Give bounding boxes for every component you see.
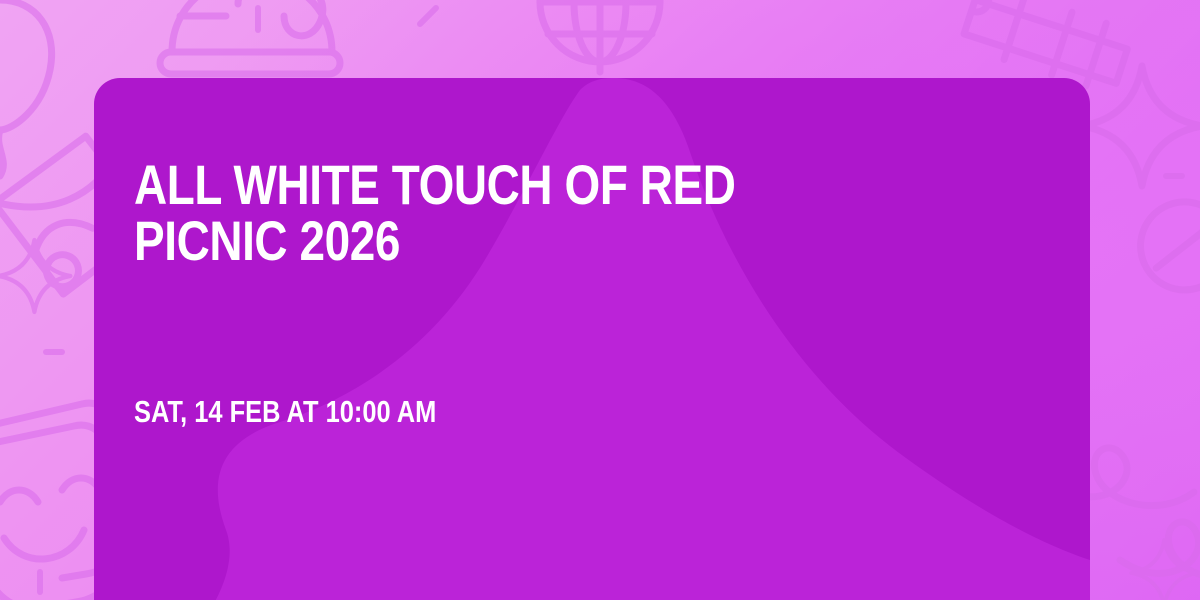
cake-icon: [160, 0, 340, 74]
balloon-icon: [0, 0, 52, 176]
event-datetime: Sat, 14 Feb at 10:00 AM: [134, 396, 757, 427]
event-card[interactable]: All White Touch of Red Picnic 2026 Sat, …: [94, 78, 1090, 600]
globe-icon: [540, 0, 660, 72]
sparkle-icon: [1082, 66, 1200, 186]
event-title: All White Touch of Red Picnic 2026: [134, 157, 757, 269]
event-banner: All White Touch of Red Picnic 2026 Sat, …: [0, 0, 1200, 600]
card-content: All White Touch of Red Picnic 2026 Sat, …: [134, 78, 1050, 600]
microphone-icon: [1123, 184, 1200, 355]
sparkle-icon: [0, 240, 70, 312]
